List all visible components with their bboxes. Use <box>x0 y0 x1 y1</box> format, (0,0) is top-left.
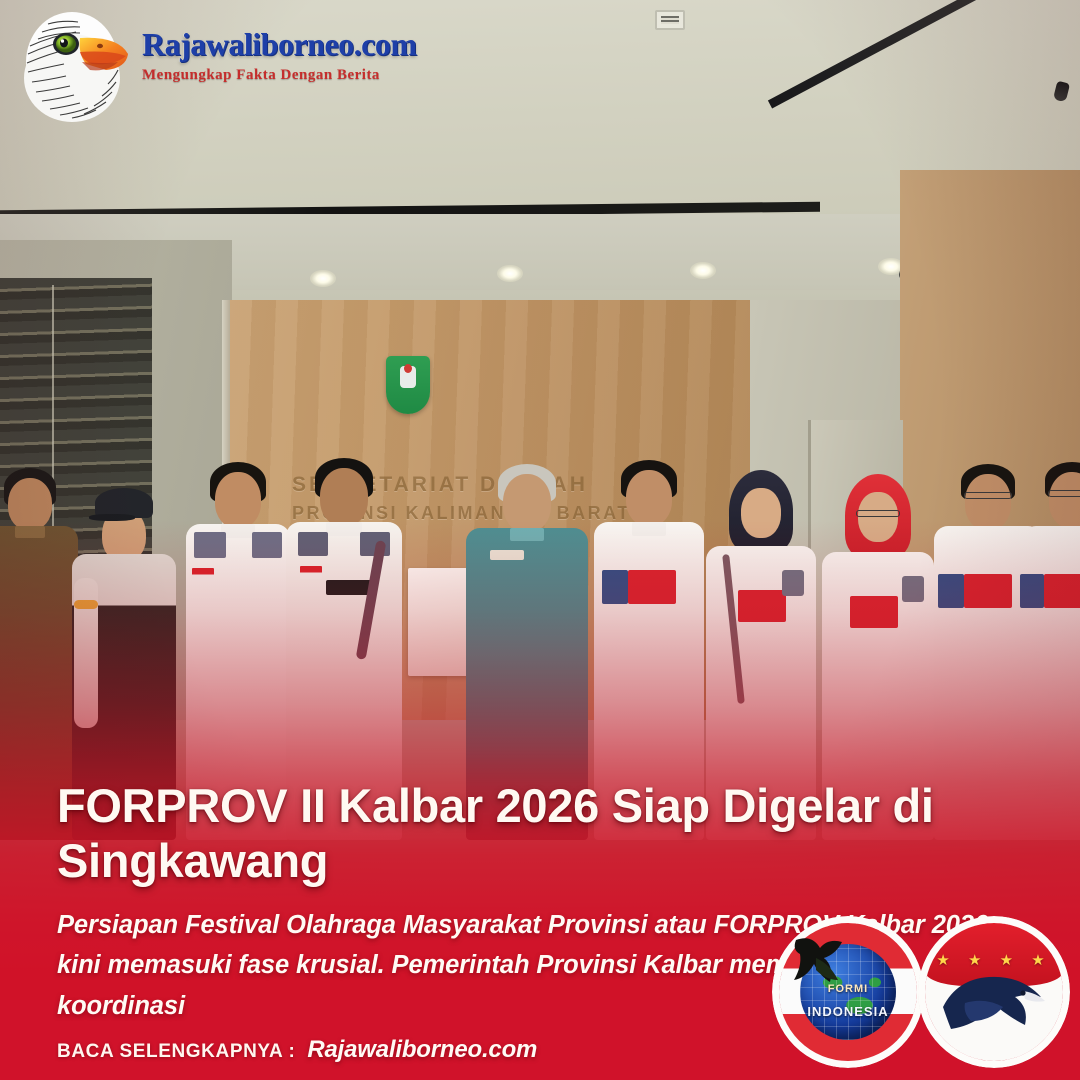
site-logo[interactable]: Rajawaliborneo.com Mengungkap Fakta Deng… <box>8 2 428 122</box>
brand-tagline: Mengungkap Fakta Dengan Berita <box>142 67 422 84</box>
stars: ★ ★ ★ ★ <box>925 951 1063 969</box>
read-more-label: BACA SELENGKAPNYA : <box>57 1041 295 1063</box>
article-headline: FORPROV II Kalbar 2026 Siap Digelar di S… <box>57 778 957 889</box>
read-more-url[interactable]: Rajawaliborneo.com <box>307 1036 537 1064</box>
eagle-crest-badge: ★ ★ ★ ★ <box>918 916 1070 1068</box>
brand-text: Rajawaliborneo.com Mengungkap Fakta Deng… <box>142 28 422 84</box>
formi-indonesia-badge: FORMI INDONESIA <box>772 916 924 1068</box>
news-card: SEKRETARIAT DAERAH PROVINSI KALIMANTAN B… <box>0 0 1080 1080</box>
formi-main-text: INDONESIA <box>772 1004 924 1019</box>
formi-top-text: FORMI <box>772 983 924 995</box>
read-more[interactable]: BACA SELENGKAPNYA : Rajawaliborneo.com <box>57 1036 537 1064</box>
brand-name: Rajawaliborneo.com <box>142 28 422 60</box>
bird-silhouette-icon <box>786 932 858 1010</box>
eagle-head-crest-icon <box>937 963 1051 1045</box>
eagle-head-icon <box>14 6 138 124</box>
